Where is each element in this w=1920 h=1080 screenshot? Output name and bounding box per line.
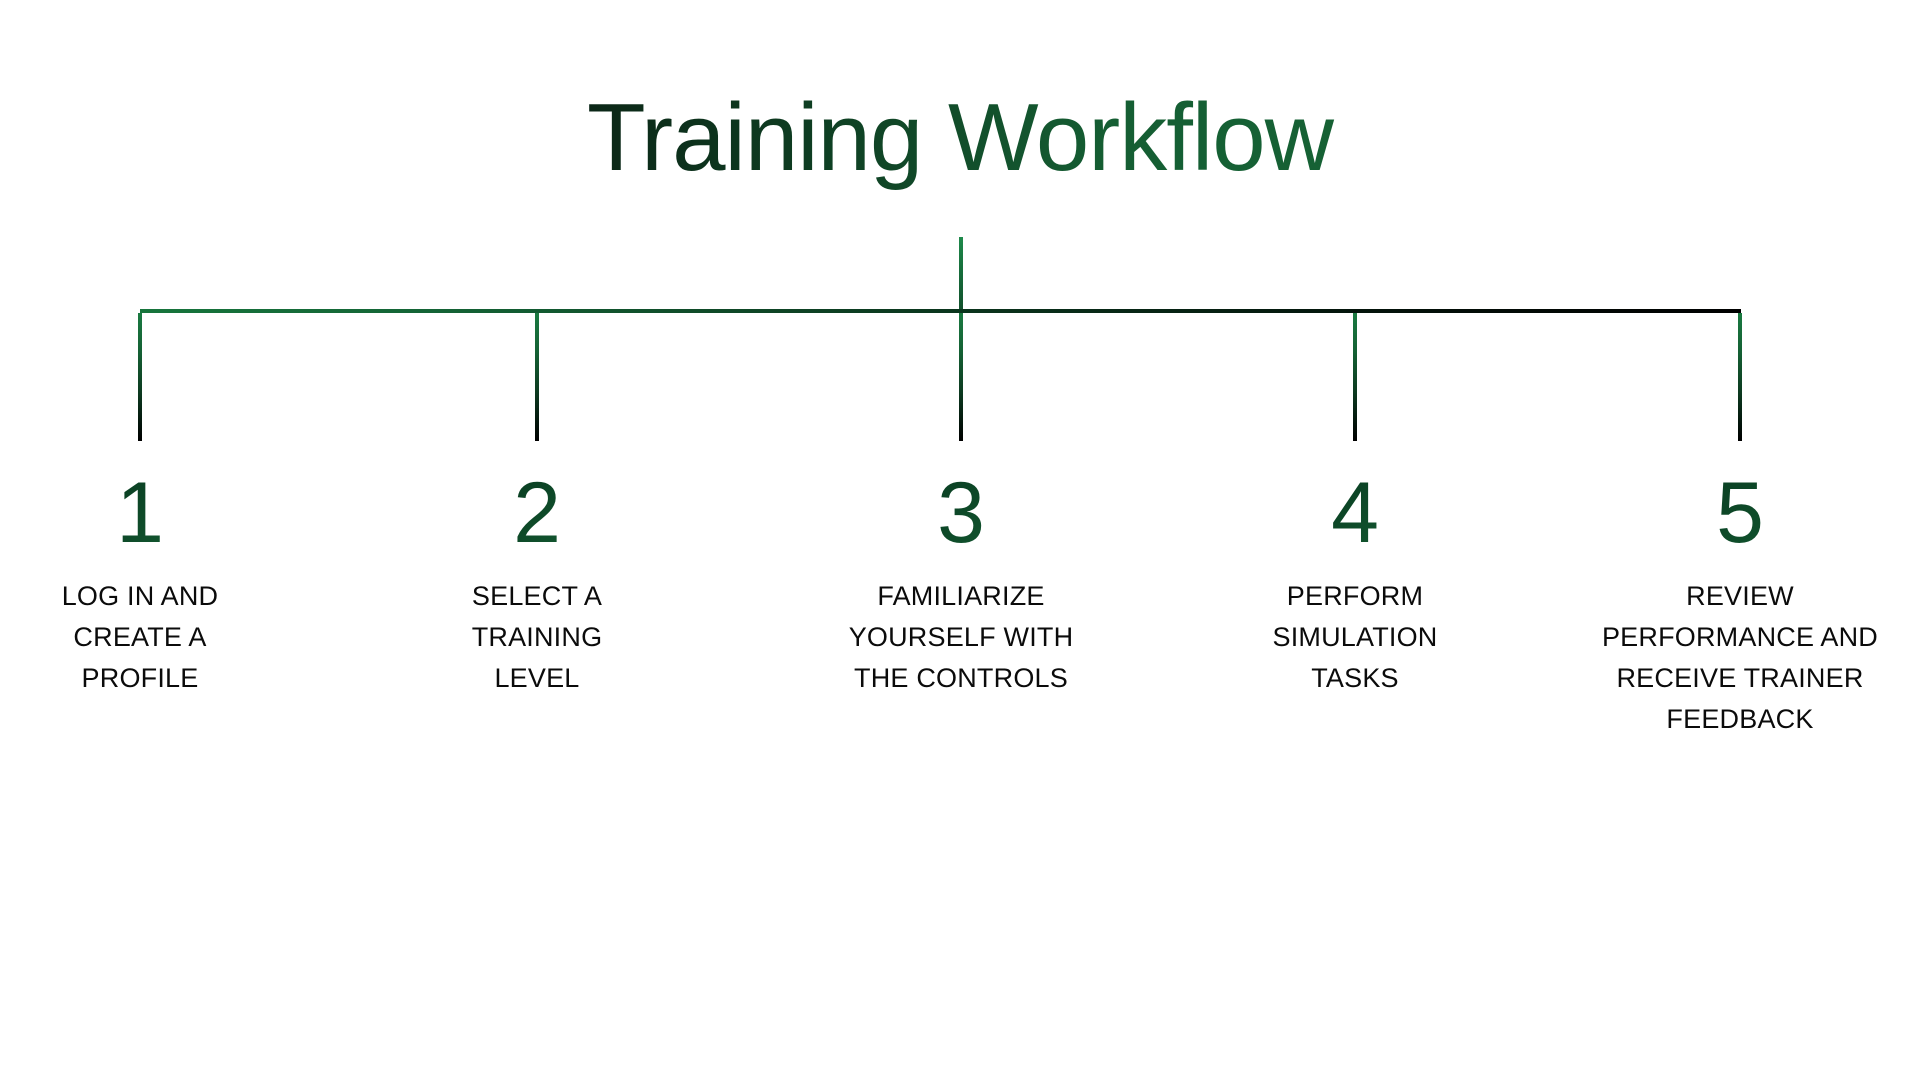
step-caption-line: SIMULATION xyxy=(1235,617,1475,658)
step-caption-line: FAMILIARIZE xyxy=(816,576,1106,617)
step-caption-line: YOURSELF WITH xyxy=(816,617,1106,658)
infographic-canvas: Training Workflow 1LOG IN ANDCREATE APRO… xyxy=(0,0,1920,1080)
step-caption-line: LOG IN AND xyxy=(25,576,255,617)
page-title: Training Workflow xyxy=(0,86,1920,190)
step-caption-line: RECEIVE TRAINER xyxy=(1570,658,1910,699)
step-number-4: 4 xyxy=(1235,470,1475,556)
step-3[interactable]: 3FAMILIARIZEYOURSELF WITHTHE CONTROLS xyxy=(816,470,1106,699)
step-5[interactable]: 5REVIEWPERFORMANCE ANDRECEIVE TRAINERFEE… xyxy=(1570,470,1910,740)
step-caption-3: FAMILIARIZEYOURSELF WITHTHE CONTROLS xyxy=(816,576,1106,699)
step-caption-line: REVIEW xyxy=(1570,576,1910,617)
step-number-2: 2 xyxy=(422,470,652,556)
page-title-part-green: Workflow xyxy=(948,84,1333,191)
step-number-5: 5 xyxy=(1570,470,1910,556)
step-4[interactable]: 4PERFORMSIMULATIONTASKS xyxy=(1235,470,1475,699)
step-caption-2: SELECT ATRAININGLEVEL xyxy=(422,576,652,699)
tick-stem-4 xyxy=(1353,313,1357,441)
step-caption-line: CREATE A xyxy=(25,617,255,658)
tick-stem-2 xyxy=(535,313,539,441)
step-number-1: 1 xyxy=(25,470,255,556)
step-number-3: 3 xyxy=(816,470,1106,556)
step-2[interactable]: 2SELECT ATRAININGLEVEL xyxy=(422,470,652,699)
step-caption-line: TRAINING xyxy=(422,617,652,658)
title-connector-stem xyxy=(959,237,963,311)
step-1[interactable]: 1LOG IN ANDCREATE APROFILE xyxy=(25,470,255,699)
step-caption-line: THE CONTROLS xyxy=(816,658,1106,699)
step-caption-line: FEEDBACK xyxy=(1570,699,1910,740)
step-caption-line: PERFORMANCE AND xyxy=(1570,617,1910,658)
timeline-axis xyxy=(140,309,1741,313)
tick-stem-3 xyxy=(959,313,963,441)
step-caption-4: PERFORMSIMULATIONTASKS xyxy=(1235,576,1475,699)
tick-stem-1 xyxy=(138,313,142,441)
step-caption-1: LOG IN ANDCREATE APROFILE xyxy=(25,576,255,699)
step-caption-line: SELECT A xyxy=(422,576,652,617)
step-caption-line: PROFILE xyxy=(25,658,255,699)
tick-stem-5 xyxy=(1738,313,1742,441)
step-caption-line: PERFORM xyxy=(1235,576,1475,617)
step-caption-line: TASKS xyxy=(1235,658,1475,699)
step-caption-line: LEVEL xyxy=(422,658,652,699)
page-title-part-dark: Training xyxy=(587,84,948,191)
step-caption-5: REVIEWPERFORMANCE ANDRECEIVE TRAINERFEED… xyxy=(1570,576,1910,740)
